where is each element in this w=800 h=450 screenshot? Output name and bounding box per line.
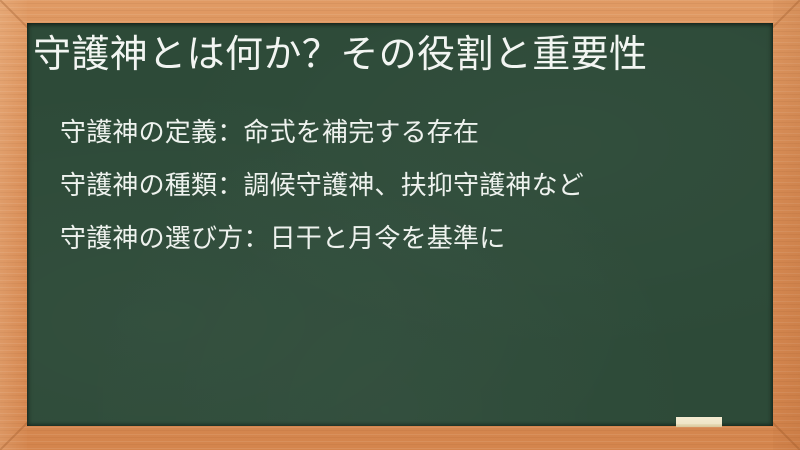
frame-left-highlight [0,0,27,450]
eraser-body [676,424,722,427]
bullet-item-1: 守護神の定義：命式を補完する存在 [60,106,760,159]
eraser-felt [676,417,722,424]
chalkboard-surface: 守護神とは何か？その役割と重要性 守護神の定義：命式を補完する存在 守護神の種類… [27,23,773,426]
frame-right-shadow [773,0,800,450]
chalkboard-slide: 守護神とは何か？その役割と重要性 守護神の定義：命式を補完する存在 守護神の種類… [0,0,800,450]
bullet-item-3: 守護神の選び方：日干と月令を基準に [60,212,760,265]
slide-title: 守護神とは何か？その役割と重要性 [33,33,647,78]
slide-bullet-list: 守護神の定義：命式を補完する存在 守護神の種類：調候守護神、扶抑守護神など 守護… [60,106,760,265]
chalk-eraser-icon [676,417,722,427]
bullet-item-2: 守護神の種類：調候守護神、扶抑守護神など [60,159,760,212]
chalkboard-content: 守護神とは何か？その役割と重要性 守護神の定義：命式を補完する存在 守護神の種類… [27,23,773,426]
